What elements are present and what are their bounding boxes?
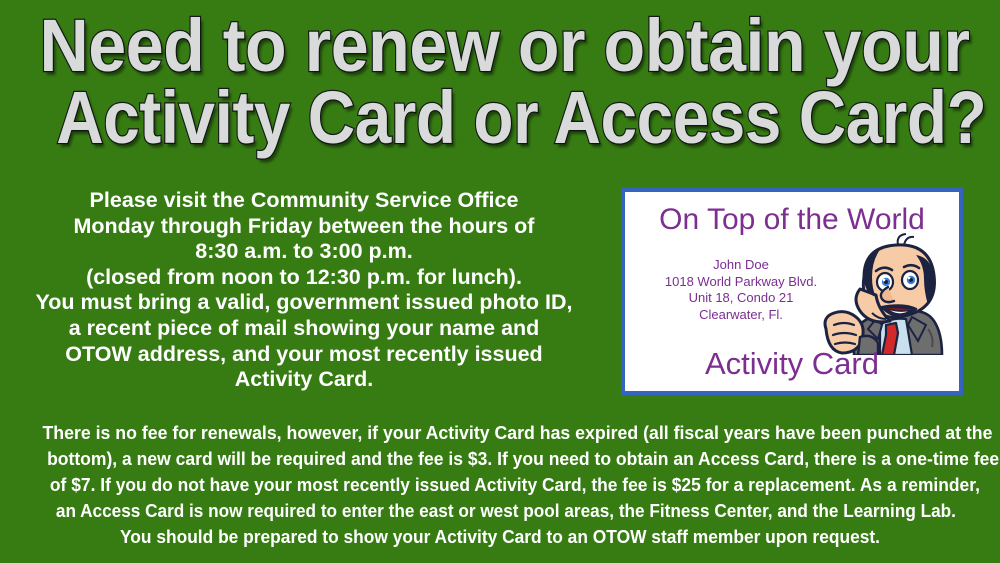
activity-card-inner: On Top of the World John Doe 1018 World … bbox=[628, 195, 956, 388]
headline-line-2: Activity Card or Access Card? bbox=[56, 82, 943, 154]
instruction-line: OTOW address, and your most recently iss… bbox=[8, 342, 600, 368]
fee-policy-line: bottom), a new card will be required and… bbox=[47, 446, 953, 472]
poster-canvas: Need to renew or obtain your Activity Ca… bbox=[0, 0, 1000, 563]
instruction-line: (closed from noon to 12:30 p.m. for lunc… bbox=[8, 265, 600, 291]
instruction-line: a recent piece of mail showing your name… bbox=[8, 316, 600, 342]
instructions-block: Please visit the Community Service Offic… bbox=[8, 188, 600, 393]
fee-policy-line: There is no fee for renewals, however, i… bbox=[42, 420, 957, 446]
instruction-line: 8:30 a.m. to 3:00 p.m. bbox=[8, 239, 600, 265]
activity-card-sample: On Top of the World John Doe 1018 World … bbox=[621, 188, 963, 395]
fee-policy-line: You should be prepared to show your Acti… bbox=[51, 524, 948, 550]
headline-line-1: Need to renew or obtain your bbox=[40, 10, 961, 82]
card-title: On Top of the World bbox=[628, 203, 956, 237]
card-footer-label: Activity Card bbox=[628, 346, 956, 382]
fee-policy-line: of $7. If you do not have your most rece… bbox=[50, 472, 950, 498]
cartoon-man-thumbs-up-icon bbox=[820, 233, 952, 355]
instruction-line: You must bring a valid, government issue… bbox=[8, 290, 600, 316]
card-address-block: John Doe 1018 World Parkway Blvd. Unit 1… bbox=[636, 257, 846, 323]
instruction-line: Monday through Friday between the hours … bbox=[8, 214, 600, 240]
instruction-line: Activity Card. bbox=[8, 367, 600, 393]
card-city: Clearwater, Fl. bbox=[636, 307, 846, 324]
fee-policy-line: an Access Card is now required to enter … bbox=[56, 498, 944, 524]
card-holder-name: John Doe bbox=[636, 257, 846, 274]
fee-policy-paragraph: There is no fee for renewals, however, i… bbox=[22, 420, 978, 550]
page-title: Need to renew or obtain your Activity Ca… bbox=[0, 10, 1000, 154]
instruction-line: Please visit the Community Service Offic… bbox=[8, 188, 600, 214]
card-street: 1018 World Parkway Blvd. bbox=[636, 274, 846, 291]
card-unit: Unit 18, Condo 21 bbox=[636, 290, 846, 307]
